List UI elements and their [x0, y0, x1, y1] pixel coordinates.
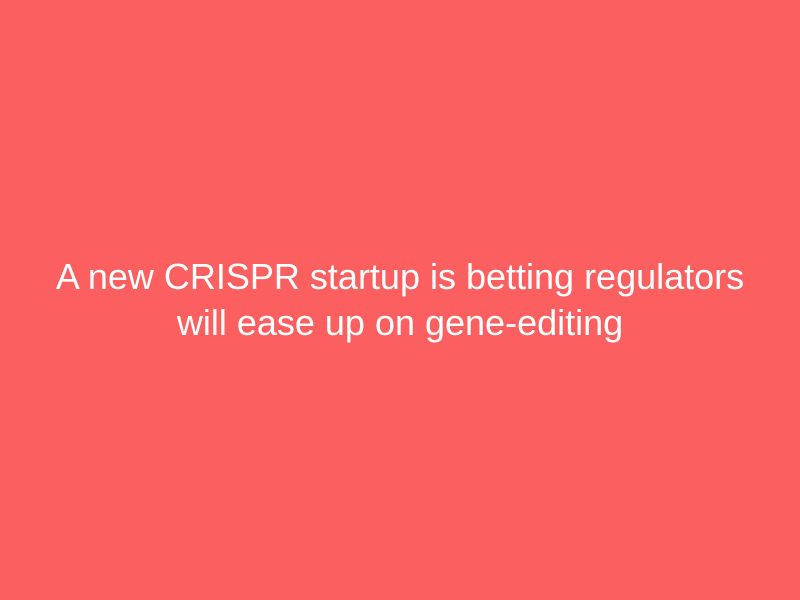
- article-headline: A new CRISPR startup is betting regulato…: [50, 254, 750, 346]
- headline-card: A new CRISPR startup is betting regulato…: [0, 0, 800, 600]
- headline-block: A new CRISPR startup is betting regulato…: [50, 254, 750, 346]
